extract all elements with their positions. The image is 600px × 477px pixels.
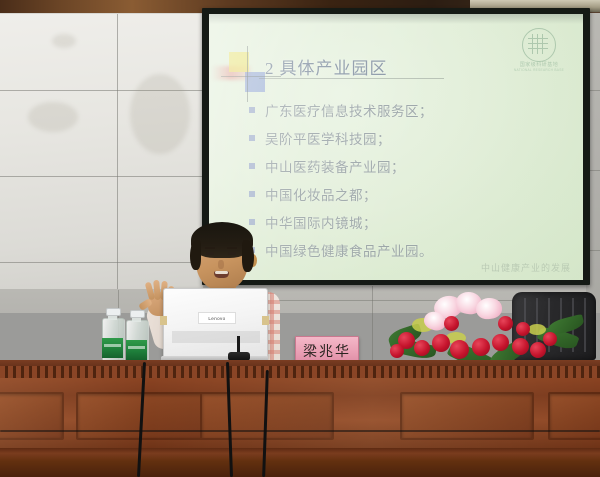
logo-subcaption: NATIONAL RESEARCH BASE: [513, 68, 565, 72]
desk-recessed-panel: [548, 392, 600, 440]
list-item: 广东医疗信息技术服务区；: [249, 96, 569, 124]
rose-flower: [512, 338, 529, 355]
rose-flower: [472, 338, 490, 356]
slide-watermark: 中山健康产业的发展: [481, 261, 571, 274]
laptop-lid-shading: [172, 331, 260, 343]
whiteboard-smudge: [28, 102, 78, 132]
slide-title: 2具体产业园区: [265, 54, 388, 79]
rose-flower: [543, 332, 557, 346]
hair-side-right: [242, 240, 254, 272]
laptop[interactable]: Lenovo: [163, 288, 266, 362]
bullet-square-icon: [249, 163, 255, 169]
desk-recessed-panel: [0, 392, 64, 440]
bullet-text: 中山医药装备产业园；: [265, 156, 405, 176]
decoration-vertical-rule: [247, 46, 248, 102]
water-bottle[interactable]: [126, 310, 147, 366]
eyebrow-right: [227, 247, 237, 249]
logo-caption: 国家级科研基地: [513, 61, 565, 68]
laptop-brand-label: Lenovo: [198, 312, 236, 324]
bottle-cap: [106, 308, 121, 316]
desk-dentil-molding: [0, 366, 600, 378]
rose-flower: [444, 316, 459, 331]
wall-panel-seam: [372, 286, 373, 362]
whiteboard-grid-line: [0, 176, 203, 177]
bullet-text: 广东医疗信息技术服务区；: [265, 100, 433, 120]
bullet-square-icon: [249, 107, 255, 113]
laptop-sticker-right: [262, 316, 269, 325]
globe-grid: [528, 34, 548, 54]
desk-recessed-panel: [400, 392, 534, 440]
list-item: 中山医药装备产业园；: [249, 152, 569, 180]
eye-left: [206, 252, 214, 255]
rose-flower: [390, 344, 404, 358]
eye-right: [228, 252, 236, 255]
laptop-sticker-left: [160, 316, 167, 325]
flower-arrangement: [388, 288, 588, 368]
nose: [218, 260, 224, 269]
bottle-cap: [130, 310, 145, 318]
whiteboard-grid-line: [117, 14, 118, 289]
whiteboard-smudge: [52, 34, 76, 48]
bullet-square-icon: [249, 135, 255, 141]
bottle-label: [102, 338, 123, 358]
slide-section-number: 2: [265, 59, 280, 78]
eyebrow-left: [205, 247, 215, 249]
laptop-lid: Lenovo: [163, 288, 268, 360]
bullet-text: 吴阶平医学科技园；: [265, 128, 391, 148]
rose-flower: [414, 340, 430, 356]
bottle-label: [126, 340, 147, 360]
rose-flower: [450, 340, 469, 359]
rose-flower: [530, 342, 546, 358]
teeth: [215, 271, 228, 274]
water-bottle[interactable]: [102, 308, 123, 364]
bullet-square-icon: [249, 191, 255, 197]
decoration-blue-square: [245, 72, 265, 92]
slide-title-underline: [259, 78, 444, 79]
list-item: 吴阶平医学科技园；: [249, 124, 569, 152]
screenshot-root: 2具体产业园区 广东医疗信息技术服务区； 吴阶平医学科技园； 中山医药装备产业园…: [0, 0, 600, 477]
rose-flower: [492, 334, 509, 351]
rose-flower: [432, 334, 450, 352]
globe-emblem-icon: 国家级科研基地 NATIONAL RESEARCH BASE: [513, 28, 565, 78]
decoration-yellow-square: [229, 52, 249, 72]
list-item: 中国化妆品之都；: [249, 180, 569, 208]
hair-side-left: [190, 240, 201, 270]
desk-lower-rail: [0, 448, 600, 477]
filler-flowers: [528, 324, 546, 335]
lily-flower: [475, 297, 503, 321]
rose-flower: [498, 316, 513, 331]
whiteboard-smudge: [130, 74, 190, 154]
screen-top-shadow: [209, 14, 583, 24]
rose-flower: [516, 322, 530, 336]
name-placard-text: 梁兆华: [303, 341, 351, 361]
slide-title-text: 具体产业园区: [280, 59, 388, 79]
cable-run: [0, 430, 600, 432]
bullet-text: 中国化妆品之都；: [265, 184, 377, 204]
